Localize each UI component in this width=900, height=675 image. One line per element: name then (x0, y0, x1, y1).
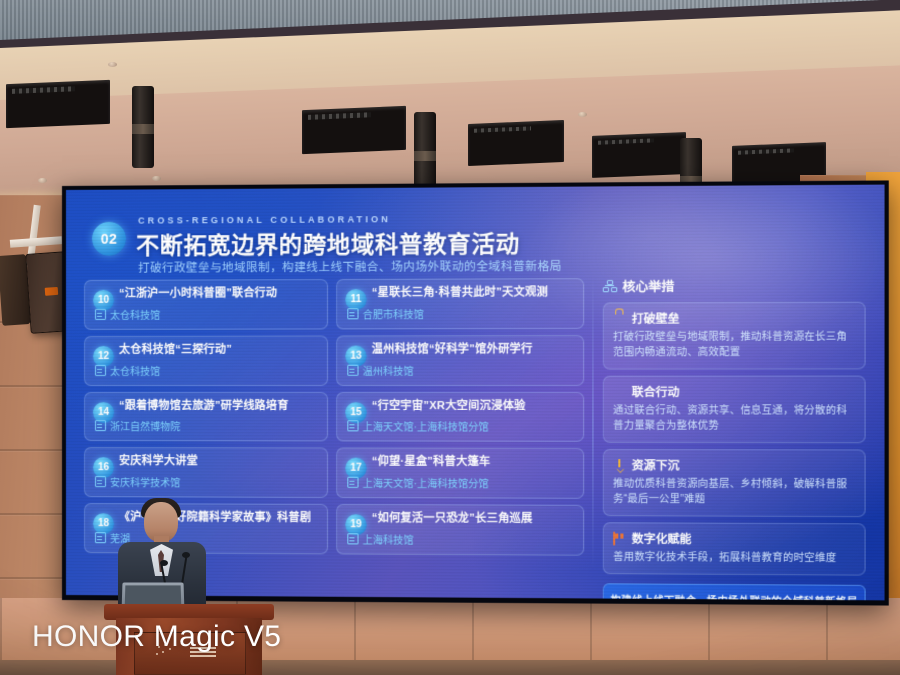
down-arrow-icon (613, 459, 626, 471)
activity-card: 19 “如何复活一只恐龙”长三角巡展 上海科技馆 (336, 504, 584, 555)
lock-icon (613, 313, 626, 325)
measure-body: 打破行政壁垒与地域限制，推动科普资源在长三角范围内畅通流动、高效配置 (613, 329, 855, 360)
digital-icon (613, 532, 626, 544)
photo-scene: 02 CROSS-REGIONAL COLLABORATION 不断拓宽边界的跨… (0, 0, 900, 675)
smoke-detector (578, 112, 587, 117)
museum-icon (347, 477, 358, 488)
activity-card: 16 安庆科学大讲堂 安庆科学技术馆 (84, 447, 328, 498)
card-row: 16 安庆科学大讲堂 安庆科学技术馆 17 “仰望·星盒”科普大篷车 (84, 447, 584, 498)
card-title: “江浙沪一小时科普圈”联合行动 (119, 287, 319, 301)
museum-icon (95, 420, 106, 431)
slide-title: 不断拓宽边界的跨地域科普教育活动 (136, 225, 520, 261)
card-venue-label: 太仓科技馆 (110, 362, 160, 377)
card-venue: 安庆科学技术馆 (95, 474, 319, 490)
card-title: “行空宇宙”XR大空间沉浸体验 (372, 400, 575, 414)
museum-icon (95, 364, 106, 375)
measure-title: 数字化赋能 (632, 530, 692, 547)
card-venue-label: 上海科技馆 (363, 531, 414, 546)
card-venue-label: 温州科技馆 (363, 362, 414, 377)
card-venue: 合肥市科技馆 (347, 305, 575, 321)
card-title: “仰望·星盒”科普大篷车 (372, 456, 575, 470)
card-venue: 太仓科技馆 (95, 306, 319, 322)
card-number: 10 (93, 290, 114, 311)
ceiling-speaker-box (468, 120, 564, 166)
measure-title: 打破壁垒 (632, 310, 680, 326)
ceiling-speaker-box (6, 80, 110, 128)
card-title: 安庆科学大讲堂 (119, 455, 319, 469)
activity-card: 10 “江浙沪一小时科普圈”联合行动 太仓科技馆 (84, 279, 328, 330)
museum-icon (347, 533, 358, 544)
activity-card: 14 “跟着博物馆去旅游”研学线路培育 浙江自然博物院 (84, 391, 328, 441)
smoke-detector (152, 176, 161, 181)
column-divider (592, 274, 593, 569)
card-venue: 上海科技馆 (347, 531, 575, 547)
ceiling-speaker-box (592, 132, 686, 178)
card-venue: 太仓科技馆 (95, 362, 319, 377)
card-number: 11 (345, 289, 366, 310)
measure-title: 资源下沉 (632, 457, 680, 473)
card-venue: 温州科技馆 (347, 362, 575, 377)
museum-icon (347, 421, 358, 432)
card-row: 12 太仓科技馆“三探行动” 太仓科技馆 13 温州科技馆“好科学”馆外研学行 (84, 335, 584, 386)
ceiling-duct (132, 86, 154, 168)
smoke-detector (38, 178, 47, 183)
measure-card: 数字化赋能 善用数字化技术手段，拓展科普教育的时空维度 (603, 522, 866, 575)
measure-card: 打破壁垒 打破行政壁垒与地域限制，推动科普资源在长三角范围内畅通流动、高效配置 (603, 302, 866, 370)
card-venue-label: 太仓科技馆 (110, 306, 160, 321)
measure-body: 推动优质科普资源向基层、乡村倾斜，破解科普服务“最后一公里”难题 (613, 476, 855, 507)
card-venue-label: 合肥市科技馆 (363, 306, 424, 321)
core-measures-panel: 核心举措 打破壁垒 打破行政壁垒与地域限制，推动科普资源在长三角范围内畅通流动、… (603, 275, 866, 600)
slide-subtitle: 打破行政壁垒与地域限制，构建线上线下融合、场内场外联动的全域科普新格局 (138, 258, 562, 276)
measure-body: 通过联合行动、资源共享、信息互通，将分散的科普力量聚合为整体优势 (613, 403, 855, 434)
measure-header: 打破壁垒 (613, 310, 855, 327)
card-venue: 浙江自然博物院 (95, 418, 319, 433)
measure-header: 资源下沉 (613, 457, 855, 474)
section-number-badge: 02 (92, 222, 126, 256)
card-title: “星联长三角·科普共此时”天文观测 (372, 286, 575, 301)
measure-title: 联合行动 (632, 384, 680, 400)
slide-header: 02 CROSS-REGIONAL COLLABORATION 不断拓宽边界的跨… (92, 211, 859, 215)
card-title: 温州科技馆“好科学”馆外研学行 (372, 343, 575, 357)
card-venue-label: 上海天文馆·上海科技馆分馆 (363, 418, 489, 433)
microphone-head-icon (182, 552, 190, 558)
ceiling-speaker-box (302, 106, 406, 154)
activity-card: 12 太仓科技馆“三探行动” 太仓科技馆 (84, 335, 328, 385)
measure-header: 联合行动 (613, 384, 855, 400)
measure-card: 资源下沉 推动优质科普资源向基层、乡村倾斜，破解科普服务“最后一公里”难题 (603, 449, 866, 517)
museum-icon (95, 476, 106, 487)
card-row: 10 “江浙沪一小时科普圈”联合行动 太仓科技馆 11 “星联长三角·科普共此时… (84, 278, 584, 330)
jbl-logo-icon (45, 287, 59, 296)
card-title: “如何复活一只恐龙”长三角巡展 (372, 512, 575, 527)
camera-watermark: HONOR Magic V5 (32, 620, 281, 654)
card-venue: 上海天文馆·上海科技馆分馆 (347, 418, 575, 433)
smoke-detector (108, 62, 117, 67)
card-title: “跟着博物馆去旅游”研学线路培育 (119, 400, 319, 414)
measure-card: 联合行动 通过联合行动、资源共享、信息互通，将分散的科普力量聚合为整体优势 (603, 376, 866, 444)
card-number: 12 (93, 346, 114, 367)
card-number: 19 (345, 514, 366, 535)
card-venue-label: 安庆科学技术馆 (110, 474, 180, 489)
measure-body: 善用数字化技术手段，拓展科普教育的时空维度 (613, 550, 855, 567)
sitemap-icon (603, 280, 616, 291)
card-title: 太仓科技馆“三探行动” (119, 343, 319, 357)
measure-header: 数字化赋能 (613, 530, 855, 547)
activity-card: 11 “星联长三角·科普共此时”天文观测 合肥市科技馆 (336, 278, 584, 329)
microphone-head-icon (160, 560, 168, 566)
card-venue-label: 上海天文馆·上海科技馆分馆 (363, 475, 489, 491)
museum-icon (347, 308, 358, 319)
slide-eyebrow: CROSS-REGIONAL COLLABORATION (138, 214, 391, 225)
panel-footer-banner: 构建线上线下融合、场内场外联动的全域科普新格局 (603, 583, 866, 600)
card-venue: 上海天文馆·上海科技馆分馆 (347, 475, 575, 491)
core-measures-heading: 核心举措 (603, 275, 866, 295)
museum-icon (347, 364, 358, 375)
handshake-icon (613, 386, 626, 398)
core-measures-heading-label: 核心举措 (622, 276, 674, 296)
activity-card: 17 “仰望·星盒”科普大篷车 上海天文馆·上海科技馆分馆 (336, 448, 584, 499)
museum-icon (95, 309, 106, 320)
card-number: 13 (345, 345, 366, 366)
card-venue-label: 浙江自然博物院 (110, 418, 180, 433)
activity-card: 13 温州科技馆“好科学”馆外研学行 温州科技馆 (336, 335, 584, 386)
card-row: 14 “跟着博物馆去旅游”研学线路培育 浙江自然博物院 15 “行空宇宙”XR大… (84, 391, 584, 442)
activity-card: 15 “行空宇宙”XR大空间沉浸体验 上海天文馆·上海科技馆分馆 (336, 391, 584, 442)
